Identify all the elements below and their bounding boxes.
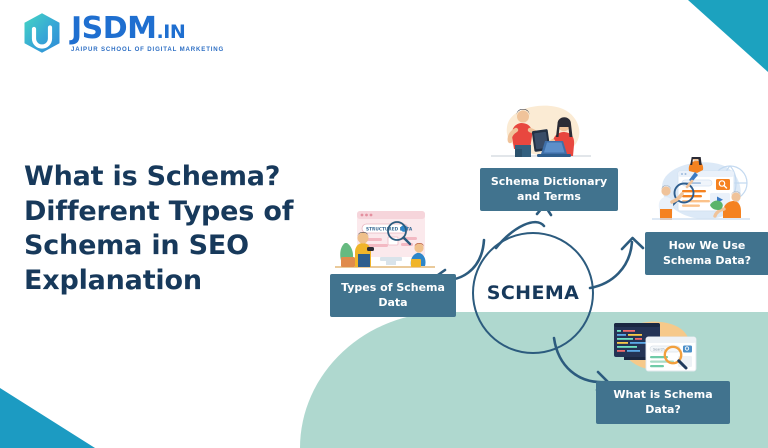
seo-search-browser-illustration <box>648 157 754 229</box>
schema-center-label: SCHEMA <box>487 282 580 304</box>
node-label-schema-dictionary-and-terms[interactable]: Schema Dictionary and Terms <box>480 168 618 211</box>
node-label-how-we-use-schema-data[interactable]: How We Use Schema Data? <box>645 232 768 275</box>
two-people-laptop-illustration <box>487 99 595 167</box>
structured-data-search-illustration: STRUCTURED DATA <box>333 207 437 279</box>
schema-diagram: SCHEMA STRUCTURED DATA <box>0 0 768 448</box>
node-label-what-is-schema-data[interactable]: What is Schema Data? <box>596 381 730 424</box>
schema-center-circle: SCHEMA <box>472 232 594 354</box>
node-label-types-of-schema-data[interactable]: Types of Schema Data <box>330 274 456 317</box>
featured-image-canvas: JSDM.IN JAIPUR SCHOOL OF DIGITAL MARKETI… <box>0 0 768 448</box>
code-editor-search-illustration: Search... <box>604 313 704 381</box>
